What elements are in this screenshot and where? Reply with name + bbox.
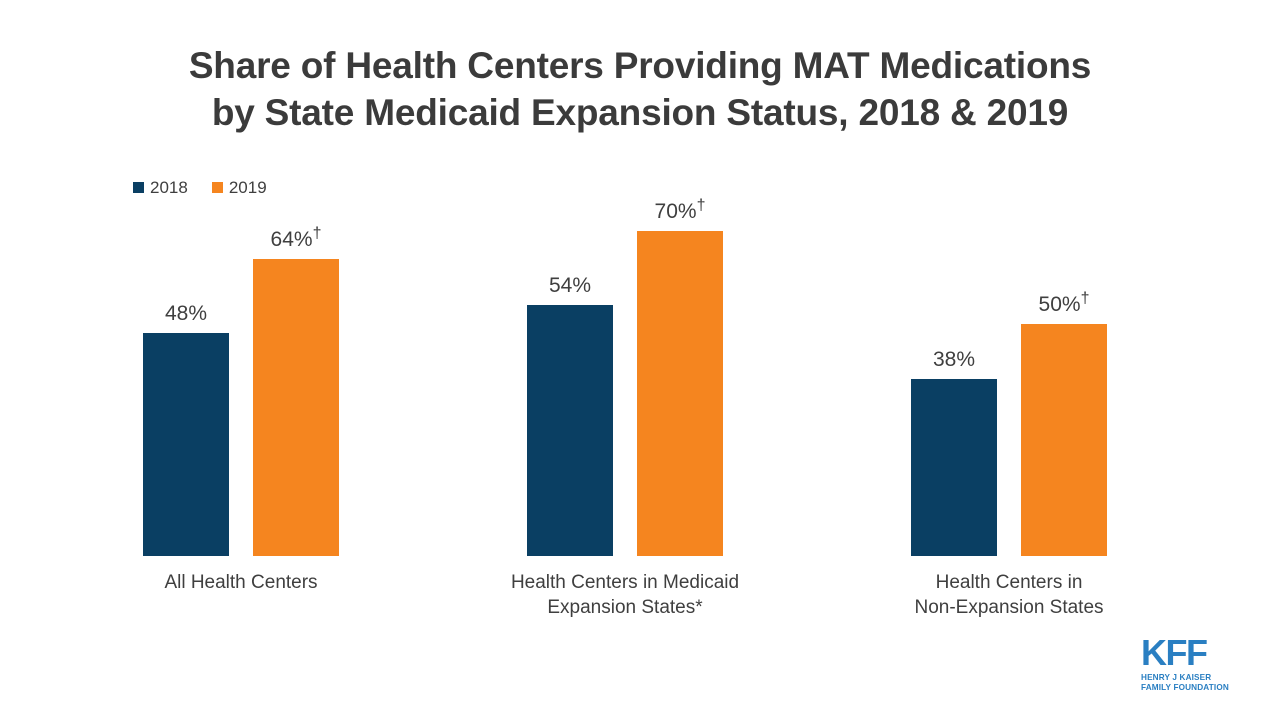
category-label-2-line-2: Expansion States* (425, 595, 825, 620)
bar-value-label-2018-group-2: 54% (497, 275, 643, 296)
bar-2019-group-3[interactable] (1021, 324, 1107, 556)
plot-area: 48%64%†All Health Centers54%70%†Health C… (0, 0, 1280, 720)
bar-value-label-2019-group-3: 50%† (991, 294, 1137, 315)
bar-value-label-2019-group-1: 64%† (223, 229, 369, 250)
bar-2018-group-1[interactable] (143, 333, 229, 556)
kff-wordmark: KFF (1141, 636, 1237, 670)
category-label-1: All Health Centers (41, 570, 441, 595)
chart-slide: Share of Health Centers Providing MAT Me… (0, 0, 1280, 720)
dagger-marker: † (697, 197, 706, 214)
category-label-2: Health Centers in MedicaidExpansion Stat… (425, 570, 825, 620)
dagger-marker: † (313, 225, 322, 242)
bar-2019-group-2[interactable] (637, 231, 723, 556)
bar-value-label-2018-group-3: 38% (881, 349, 1027, 370)
category-label-3: Health Centers inNon-Expansion States (809, 570, 1209, 620)
kff-logo: KFF HENRY J KAISER FAMILY FOUNDATION (1141, 636, 1237, 692)
bar-value-label-2018-group-1: 48% (113, 303, 259, 324)
category-label-2-line-1: Health Centers in Medicaid (425, 570, 825, 595)
category-label-1-line-1: All Health Centers (41, 570, 441, 595)
kff-logo-subtitle-line-2: FAMILY FOUNDATION (1141, 683, 1237, 693)
kff-logo-subtitle: HENRY J KAISER FAMILY FOUNDATION (1141, 673, 1237, 692)
bar-2019-group-1[interactable] (253, 259, 339, 556)
bar-value-label-2019-group-2: 70%† (607, 201, 753, 222)
dagger-marker: † (1081, 290, 1090, 307)
kff-logo-subtitle-line-1: HENRY J KAISER (1141, 673, 1237, 683)
bar-2018-group-2[interactable] (527, 305, 613, 556)
category-label-3-line-1: Health Centers in (809, 570, 1209, 595)
category-label-3-line-2: Non-Expansion States (809, 595, 1209, 620)
bar-2018-group-3[interactable] (911, 379, 997, 556)
